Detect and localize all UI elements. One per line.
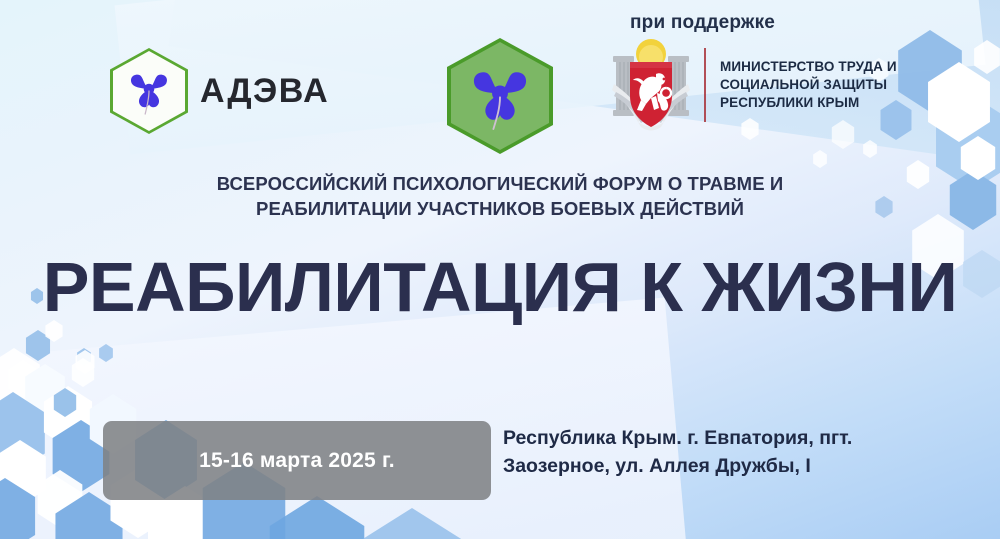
support-block: при поддержке	[608, 12, 897, 132]
center-clover-emblem[interactable]	[447, 38, 553, 154]
adeva-clover-hexagon-icon	[110, 48, 188, 134]
adeva-wordmark: АДЭВА	[200, 72, 329, 111]
location-text: Республика Крым. г. Евпатория, пгт. Заоз…	[503, 425, 943, 480]
vertical-divider	[704, 48, 706, 122]
poster-content: АДЭВА при поддержке	[0, 0, 1000, 539]
ministry-name: МИНИСТЕРСТВО ТРУДА И СОЦИАЛЬНОЙ ЗАЩИТЫ Р…	[720, 58, 897, 111]
logo-row: АДЭВА при поддержке	[0, 0, 1000, 150]
event-poster: АДЭВА при поддержке	[0, 0, 1000, 539]
date-badge: 15-16 марта 2025 г.	[103, 421, 491, 500]
clover-icon	[125, 64, 173, 118]
forum-subtitle: ВСЕРОССИЙСКИЙ ПСИХОЛОГИЧЕСКИЙ ФОРУМ О ТР…	[0, 172, 1000, 222]
crimea-coat-of-arms-icon	[608, 38, 694, 132]
clover-icon	[467, 58, 533, 134]
date-text: 15-16 марта 2025 г.	[199, 449, 395, 473]
support-label: при поддержке	[630, 12, 897, 34]
adeva-logo[interactable]: АДЭВА	[110, 48, 329, 134]
page-title: РЕАБИЛИТАЦИЯ К ЖИЗНИ	[0, 252, 1000, 322]
